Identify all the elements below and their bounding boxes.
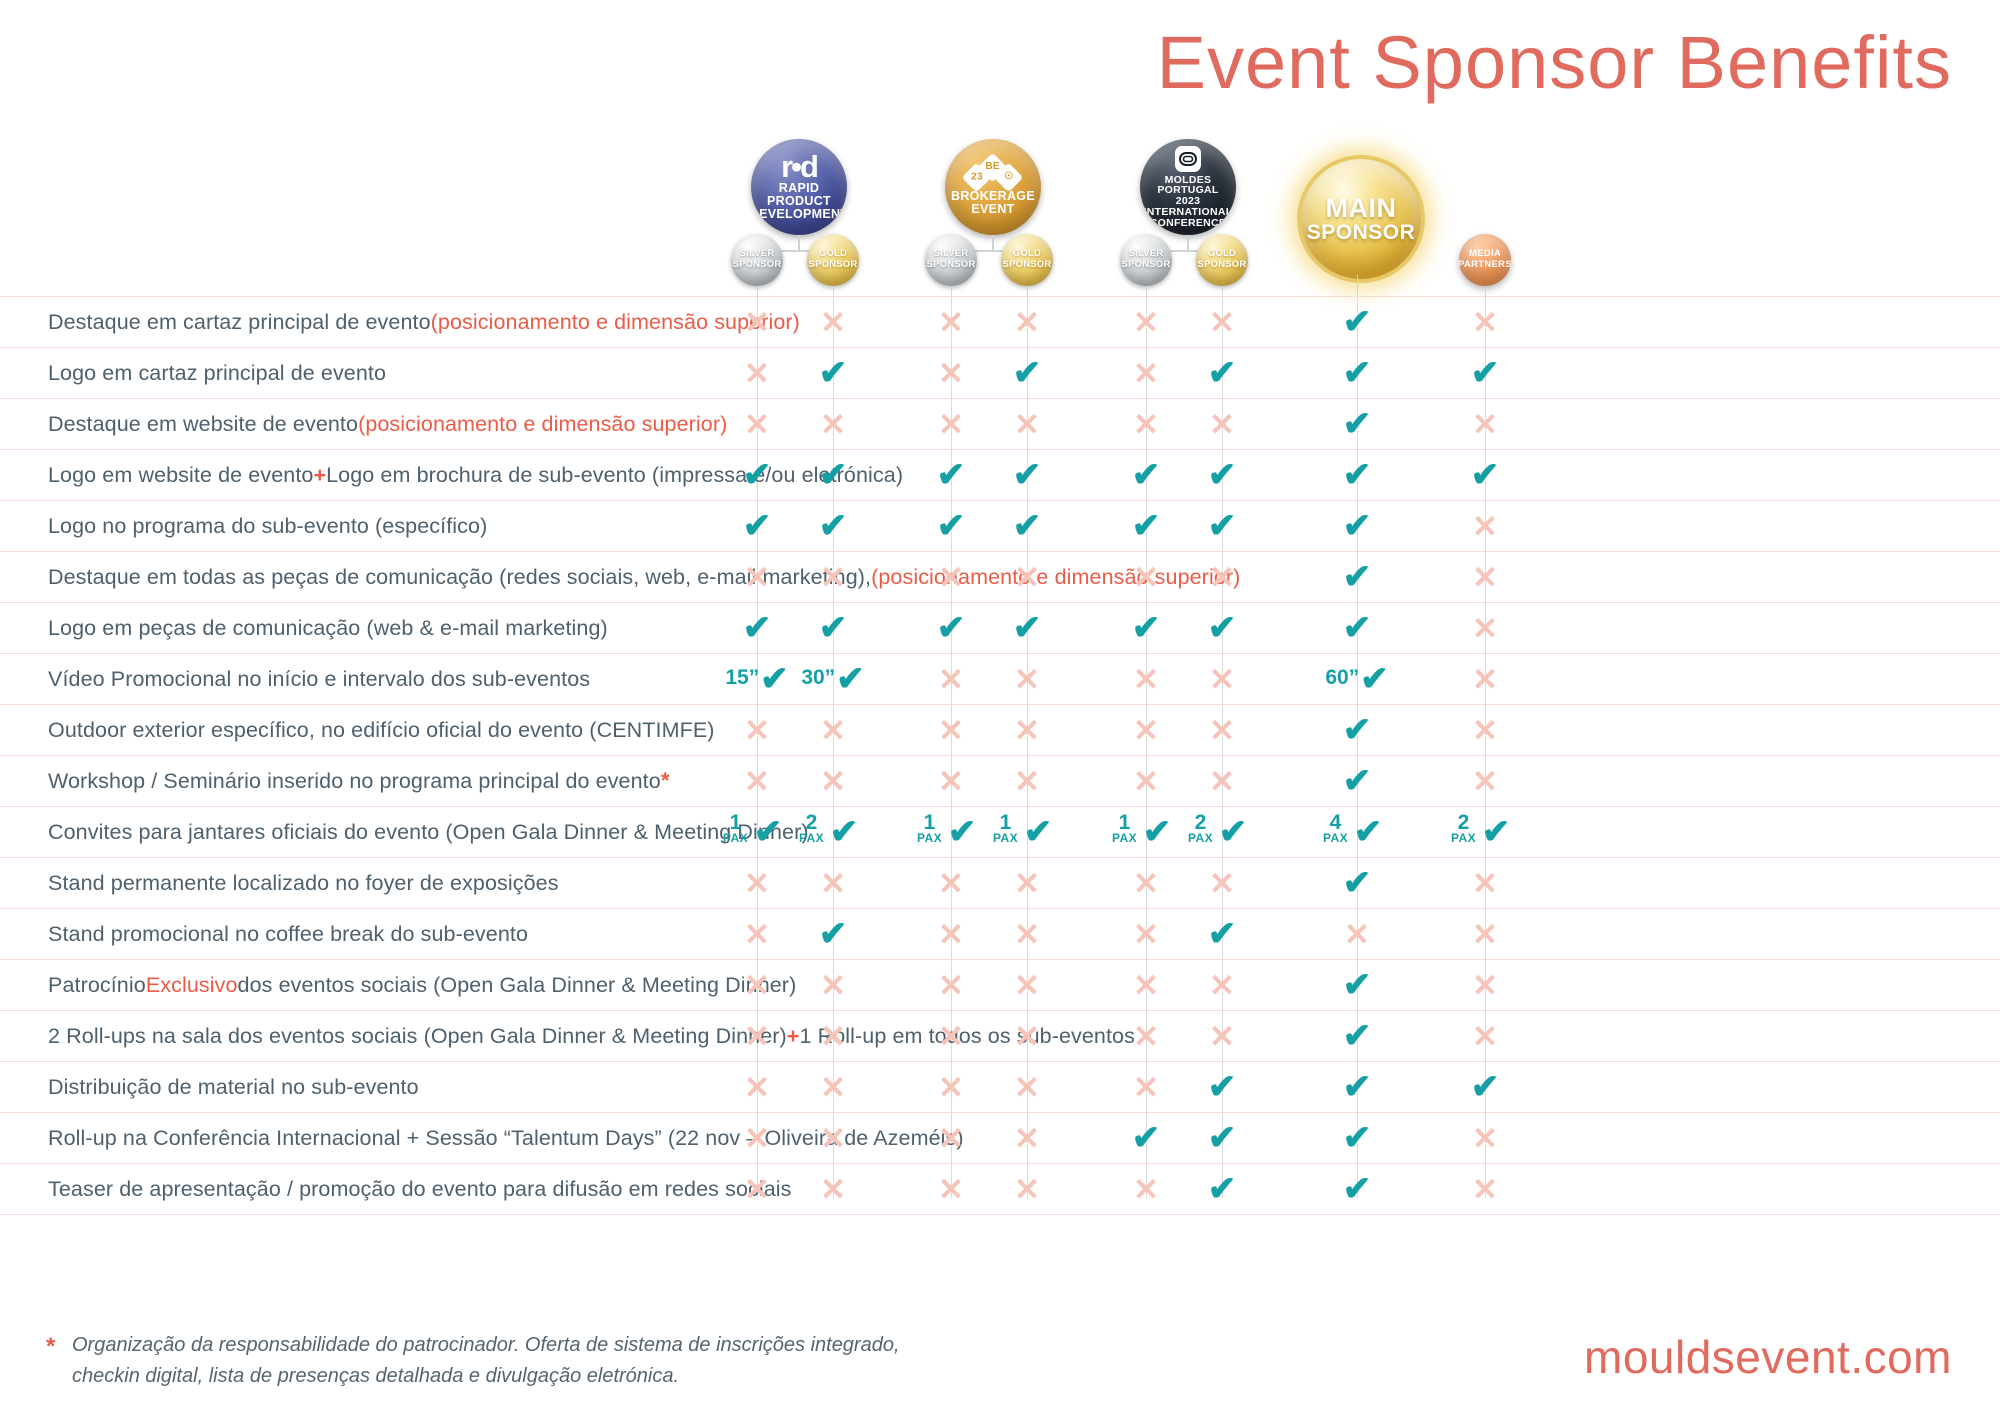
pax-unit: PAX [993,833,1018,844]
table-row: Stand permanente localizado no foyer de … [0,858,2000,909]
be-mark: BE [985,163,1000,173]
pax-quantity: 1PAX [917,813,942,844]
cross-icon: ✕ [820,970,846,1001]
check-icon: ✔ [1132,611,1161,645]
cell-be_silver: ✕ [919,858,983,908]
check-icon: ✔ [1343,458,1372,492]
cross-icon: ✕ [744,358,770,389]
cell-media: ✕ [1453,501,1517,551]
cross-icon: ✕ [1133,562,1159,593]
cell-rpd_silver: ✕ [725,1164,789,1214]
cell-main: ✔ [1325,501,1389,551]
cross-icon: ✕ [1472,562,1498,593]
check-icon: ✔ [1343,611,1372,645]
tier-line2: SPONSOR [809,260,858,271]
cross-icon: ✕ [1209,409,1235,440]
cross-icon: ✕ [820,715,846,746]
cell-media: ✕ [1453,603,1517,653]
brokerage-diamonds-icon: 23 BE ☉ [966,158,1020,188]
cell-rpd_gold: ✕ [801,399,865,449]
cross-icon: ✕ [1133,715,1159,746]
check-icon: ✔ [1471,356,1500,390]
table-row: Workshop / Seminário inserido no program… [0,756,2000,807]
duration-label: 15” [725,666,759,690]
cell-rpd_silver: ✔ [725,603,789,653]
cross-icon: ✕ [1209,970,1235,1001]
cross-icon: ✕ [1344,919,1370,950]
table-row: Logo em cartaz principal de evento✕✔✕✔✕✔… [0,348,2000,399]
cell-mpic_silver: ✕ [1114,1164,1178,1214]
cross-icon: ✕ [1472,715,1498,746]
cross-icon: ✕ [744,715,770,746]
cell-mpic_gold: ✕ [1190,552,1254,602]
cell-rpd_silver: ✕ [725,297,789,347]
pax-quantity: 2PAX [1188,813,1213,844]
footnote-line1: Organização da responsabilidade do patro… [72,1330,900,1361]
cross-icon: ✕ [744,409,770,440]
check-icon: ✔ [743,509,772,543]
cell-media: ✕ [1453,1011,1517,1061]
cell-main: ✔ [1325,1113,1389,1163]
cell-rpd_silver: ✕ [725,1113,789,1163]
cross-icon: ✕ [1472,1174,1498,1205]
cross-icon: ✕ [1133,1174,1159,1205]
cross-icon: ✕ [938,1123,964,1154]
pax-unit: PAX [723,833,748,844]
cell-rpd_silver: ✔ [725,501,789,551]
event-badge-moldes-portugal-conference: MOLDES PORTUGAL 2023 INTERNATIONAL CONFE… [1140,139,1236,235]
cell-mpic_gold: ✔ [1190,501,1254,551]
cell-be_silver: ✔ [919,501,983,551]
cell-rpd_gold: 30”✔ [801,654,865,704]
cross-icon: ✕ [1209,715,1235,746]
tier-line2: SPONSOR [1003,260,1052,271]
cell-rpd_silver: 15”✔ [725,654,789,704]
benefit-label: Convites para jantares oficiais do event… [48,807,809,857]
cross-icon: ✕ [1209,562,1235,593]
cell-rpd_gold: ✔ [801,603,865,653]
cell-be_gold: ✔ [995,450,1059,500]
table-row: Roll-up na Conferência Internacional + S… [0,1113,2000,1164]
cell-rpd_gold: ✔ [801,909,865,959]
main-sponsor-badge: MAIN SPONSOR [1297,155,1425,283]
check-icon: ✔ [743,458,772,492]
cell-media: ✔ [1453,1062,1517,1112]
benefit-label: Destaque em cartaz principal de evento (… [48,297,800,347]
check-icon: ✔ [1013,458,1042,492]
benefit-label: Destaque em website de evento (posiciona… [48,399,727,449]
tier-badge-be-silver: SILVER SPONSOR [925,234,977,286]
cell-mpic_gold: ✕ [1190,756,1254,806]
pax-number: 2 [799,813,824,833]
cross-icon: ✕ [744,868,770,899]
cross-icon: ✕ [1472,511,1498,542]
tier-badge-mpic-silver: SILVER SPONSOR [1120,234,1172,286]
cell-be_silver: ✕ [919,297,983,347]
cell-mpic_silver: ✕ [1114,1011,1178,1061]
cell-be_silver: ✕ [919,552,983,602]
colstem-main [1357,275,1358,298]
pax-unit: PAX [917,833,942,844]
cross-icon: ✕ [1209,664,1235,695]
check-icon: ✔ [1013,611,1042,645]
tier-badge-rpd-gold: GOLD SPONSOR [807,234,859,286]
cell-be_gold: ✔ [995,348,1059,398]
cell-main: ✔ [1325,552,1389,602]
cross-icon: ✕ [938,1174,964,1205]
cross-icon: ✕ [938,919,964,950]
check-icon: ✔ [1343,305,1372,339]
cross-icon: ✕ [820,868,846,899]
benefit-label: Vídeo Promocional no início e intervalo … [48,654,590,704]
check-icon: ✔ [1208,611,1237,645]
check-icon: ✔ [1208,917,1237,951]
check-icon: ✔ [1482,815,1511,849]
check-icon: ✔ [1024,815,1053,849]
cross-icon: ✕ [1209,1021,1235,1052]
media-partners-badge: MEDIA PARTNERS [1459,234,1511,286]
cell-mpic_silver: ✕ [1114,756,1178,806]
cell-be_gold: ✕ [995,705,1059,755]
cell-mpic_gold: ✔ [1190,348,1254,398]
table-row: Teaser de apresentação / promoção do eve… [0,1164,2000,1215]
check-icon: ✔ [1219,815,1248,849]
check-icon: ✔ [937,509,966,543]
cell-mpic_silver: ✕ [1114,399,1178,449]
cell-mpic_gold: ✕ [1190,705,1254,755]
pax-quantity: 2PAX [799,813,824,844]
cell-mpic_gold: ✔ [1190,1113,1254,1163]
cell-mpic_silver: ✕ [1114,705,1178,755]
check-icon: ✔ [1360,662,1389,696]
event-badge-brokerage-event: 23 BE ☉ BROKERAGE EVENT [945,139,1041,235]
cell-be_silver: ✕ [919,654,983,704]
cross-icon: ✕ [1472,307,1498,338]
table-row: Outdoor exterior específico, no edifício… [0,705,2000,756]
benefit-label: Logo em cartaz principal de evento [48,348,386,398]
cell-rpd_gold: ✔ [801,348,865,398]
cell-main: ✔ [1325,858,1389,908]
cross-icon: ✕ [1209,766,1235,797]
cross-icon: ✕ [820,1174,846,1205]
cross-icon: ✕ [1133,970,1159,1001]
cell-mpic_silver: ✔ [1114,501,1178,551]
cell-rpd_silver: ✕ [725,705,789,755]
check-icon: ✔ [1132,509,1161,543]
cell-be_gold: ✕ [995,399,1059,449]
cell-mpic_silver: ✕ [1114,909,1178,959]
cross-icon: ✕ [744,1072,770,1103]
cell-rpd_gold: 2PAX✔ [801,807,865,857]
pax-quantity: 4PAX [1323,813,1348,844]
pax-number: 1 [723,813,748,833]
cell-be_gold: ✕ [995,1011,1059,1061]
check-icon: ✔ [1354,815,1383,849]
check-icon: ✔ [1343,1172,1372,1206]
cell-rpd_gold: ✕ [801,756,865,806]
check-icon: ✔ [1013,356,1042,390]
footnote-line2: checkin digital, lista de presenças deta… [72,1361,900,1392]
poster-root: Event Sponsor Benefits r•d RAPID PRODUCT… [0,0,2000,1415]
cell-media: ✕ [1453,858,1517,908]
cross-icon: ✕ [1014,307,1040,338]
cell-media: ✕ [1453,756,1517,806]
cross-icon: ✕ [1133,358,1159,389]
cross-icon: ✕ [1472,409,1498,440]
check-icon: ✔ [819,611,848,645]
cell-rpd_silver: ✕ [725,348,789,398]
cell-be_silver: ✕ [919,960,983,1010]
main-sponsor-line2: SPONSOR [1307,222,1416,243]
cross-icon: ✕ [1014,664,1040,695]
pax-number: 4 [1323,813,1348,833]
cell-main: ✔ [1325,297,1389,347]
table-row: Destaque em todas as peças de comunicaçã… [0,552,2000,603]
main-sponsor-line1: MAIN [1326,195,1397,223]
cross-icon: ✕ [1014,1174,1040,1205]
handshake-icon: ☉ [1004,173,1013,183]
cell-rpd_silver: ✕ [725,756,789,806]
cell-rpd_gold: ✕ [801,960,865,1010]
pax-quantity: 2PAX [1451,813,1476,844]
event-badge-rapid-product-development: r•d RAPID PRODUCT DEVELOPMENT [751,139,847,235]
cross-icon: ✕ [938,715,964,746]
cell-media: ✕ [1453,960,1517,1010]
cell-be_silver: ✔ [919,450,983,500]
benefit-label: Logo no programa do sub-evento (específi… [48,501,487,551]
cell-be_gold: ✕ [995,654,1059,704]
check-icon: ✔ [819,356,848,390]
cell-mpic_silver: ✕ [1114,552,1178,602]
cell-be_gold: ✕ [995,1164,1059,1214]
pax-number: 2 [1188,813,1213,833]
cell-mpic_silver: ✔ [1114,450,1178,500]
cross-icon: ✕ [1209,868,1235,899]
cross-icon: ✕ [1472,868,1498,899]
cell-media: ✕ [1453,399,1517,449]
check-icon: ✔ [754,815,783,849]
cell-be_silver: ✕ [919,1164,983,1214]
cell-main: ✔ [1325,1062,1389,1112]
cell-be_gold: ✕ [995,858,1059,908]
event-badge-line1: MOLDES PORTUGAL [1140,175,1236,196]
cross-icon: ✕ [1133,1072,1159,1103]
pax-unit: PAX [1323,833,1348,844]
cell-be_gold: ✕ [995,1062,1059,1112]
duration-label: 60” [1325,666,1359,690]
event-badge-line1: RAPID PRODUCT [751,182,847,208]
table-row: Destaque em cartaz principal de evento (… [0,296,2000,348]
cross-icon: ✕ [938,1072,964,1103]
cross-icon: ✕ [938,1021,964,1052]
check-icon: ✔ [1343,866,1372,900]
cell-mpic_silver: ✕ [1114,960,1178,1010]
cross-icon: ✕ [744,1021,770,1052]
check-icon: ✔ [1208,509,1237,543]
cell-rpd_silver: ✕ [725,1062,789,1112]
cell-be_gold: ✕ [995,1113,1059,1163]
pax-number: 1 [993,813,1018,833]
cell-rpd_silver: 1PAX✔ [725,807,789,857]
cross-icon: ✕ [1133,664,1159,695]
table-row: Convites para jantares oficiais do event… [0,807,2000,858]
cell-mpic_gold: ✕ [1190,399,1254,449]
cell-rpd_silver: ✕ [725,909,789,959]
check-icon: ✔ [1343,1121,1372,1155]
check-icon: ✔ [819,509,848,543]
cell-be_gold: ✕ [995,960,1059,1010]
cell-media: ✔ [1453,450,1517,500]
cell-mpic_gold: ✕ [1190,858,1254,908]
table-row: Patrocínio Exclusivo dos eventos sociais… [0,960,2000,1011]
check-icon: ✔ [1343,356,1372,390]
chain-link-icon [1175,146,1201,172]
cross-icon: ✕ [820,1021,846,1052]
cell-be_gold: ✕ [995,756,1059,806]
tier-line2: SPONSOR [1198,260,1247,271]
cross-icon: ✕ [744,562,770,593]
check-icon: ✔ [937,611,966,645]
table-row: Distribuição de material no sub-evento✕✕… [0,1062,2000,1113]
check-icon: ✔ [1343,1019,1372,1053]
cell-mpic_silver: ✕ [1114,348,1178,398]
check-icon: ✔ [1343,509,1372,543]
cell-main: ✔ [1325,1011,1389,1061]
cell-mpic_gold: ✕ [1190,297,1254,347]
cell-rpd_gold: ✔ [801,450,865,500]
check-icon: ✔ [1208,1121,1237,1155]
cell-mpic_silver: ✕ [1114,858,1178,908]
cross-icon: ✕ [820,409,846,440]
benefit-label: Destaque em todas as peças de comunicaçã… [48,552,1240,602]
tier-badge-be-gold: GOLD SPONSOR [1001,234,1053,286]
cell-main: ✔ [1325,705,1389,755]
footnote: * Organização da responsabilidade do pat… [72,1330,900,1392]
cell-rpd_gold: ✕ [801,297,865,347]
cell-media: ✕ [1453,909,1517,959]
cell-mpic_silver: 1PAX✔ [1114,807,1178,857]
cell-rpd_silver: ✕ [725,552,789,602]
connector-stem-be [992,235,994,251]
cross-icon: ✕ [1472,664,1498,695]
cell-mpic_gold: ✔ [1190,909,1254,959]
cell-rpd_silver: ✕ [725,960,789,1010]
cell-mpic_gold: ✕ [1190,654,1254,704]
check-icon: ✔ [760,662,789,696]
cell-mpic_silver: ✕ [1114,297,1178,347]
connector-stem-rpd [798,235,800,251]
cell-be_gold: ✔ [995,501,1059,551]
cross-icon: ✕ [820,307,846,338]
cell-mpic_gold: ✕ [1190,1011,1254,1061]
benefit-label: Logo em peças de comunicação (web & e-ma… [48,603,608,653]
connector-stem-mpic [1187,235,1189,251]
pax-number: 1 [917,813,942,833]
cell-rpd_gold: ✕ [801,858,865,908]
cell-mpic_silver: ✕ [1114,654,1178,704]
cell-be_silver: 1PAX✔ [919,807,983,857]
table-row: Vídeo Promocional no início e intervalo … [0,654,2000,705]
cross-icon: ✕ [744,1174,770,1205]
check-icon: ✔ [1343,407,1372,441]
cross-icon: ✕ [1472,970,1498,1001]
cross-icon: ✕ [938,307,964,338]
cross-icon: ✕ [938,664,964,695]
cell-rpd_silver: ✕ [725,399,789,449]
event-badge-line2: DEVELOPMENT [751,208,847,221]
cell-main: ✔ [1325,450,1389,500]
cell-be_silver: ✕ [919,1011,983,1061]
cell-rpd_silver: ✔ [725,450,789,500]
cross-icon: ✕ [1133,919,1159,950]
pax-unit: PAX [1188,833,1213,844]
cell-rpd_gold: ✕ [801,552,865,602]
benefit-label: Workshop / Seminário inserido no program… [48,756,669,806]
cell-main: 60”✔ [1325,654,1389,704]
cross-icon: ✕ [1014,1072,1040,1103]
check-icon: ✔ [1343,560,1372,594]
pax-quantity: 1PAX [723,813,748,844]
cross-icon: ✕ [1014,868,1040,899]
check-icon: ✔ [1208,1172,1237,1206]
cell-be_silver: ✕ [919,705,983,755]
cross-icon: ✕ [938,766,964,797]
cell-mpic_silver: ✔ [1114,603,1178,653]
check-icon: ✔ [1343,764,1372,798]
cell-be_silver: ✕ [919,909,983,959]
check-icon: ✔ [1143,815,1172,849]
benefit-label: Patrocínio Exclusivo dos eventos sociais… [48,960,796,1010]
check-icon: ✔ [948,815,977,849]
table-row: Logo em website de evento + Logo em broc… [0,450,2000,501]
cell-be_silver: ✕ [919,399,983,449]
check-icon: ✔ [1132,458,1161,492]
footnote-asterisk: * [46,1328,55,1365]
cell-main: ✔ [1325,756,1389,806]
cross-icon: ✕ [1014,919,1040,950]
cell-mpic_gold: ✔ [1190,450,1254,500]
cross-icon: ✕ [1014,970,1040,1001]
benefit-label: Distribuição de material no sub-evento [48,1062,419,1112]
pax-quantity: 1PAX [993,813,1018,844]
cell-rpd_gold: ✕ [801,1113,865,1163]
cross-icon: ✕ [744,766,770,797]
table-row: Logo em peças de comunicação (web & e-ma… [0,603,2000,654]
check-icon: ✔ [1471,1070,1500,1104]
cross-icon: ✕ [1133,766,1159,797]
pax-number: 2 [1451,813,1476,833]
cell-mpic_silver: ✔ [1114,1113,1178,1163]
benefit-label: Stand promocional no coffee break do sub… [48,909,528,959]
cell-media: ✕ [1453,552,1517,602]
cross-icon: ✕ [820,766,846,797]
cell-media: ✕ [1453,297,1517,347]
check-icon: ✔ [1208,1070,1237,1104]
cross-icon: ✕ [744,307,770,338]
cell-rpd_silver: ✕ [725,858,789,908]
check-icon: ✔ [819,917,848,951]
cross-icon: ✕ [1014,715,1040,746]
cross-icon: ✕ [1472,1021,1498,1052]
tier-line2: SPONSOR [1122,260,1171,271]
cell-be_gold: 1PAX✔ [995,807,1059,857]
cell-mpic_gold: ✔ [1190,603,1254,653]
table-row: Stand promocional no coffee break do sub… [0,909,2000,960]
cell-rpd_gold: ✕ [801,1011,865,1061]
cell-media: 2PAX✔ [1453,807,1517,857]
benefit-label: Stand permanente localizado no foyer de … [48,858,559,908]
check-icon: ✔ [1343,968,1372,1002]
